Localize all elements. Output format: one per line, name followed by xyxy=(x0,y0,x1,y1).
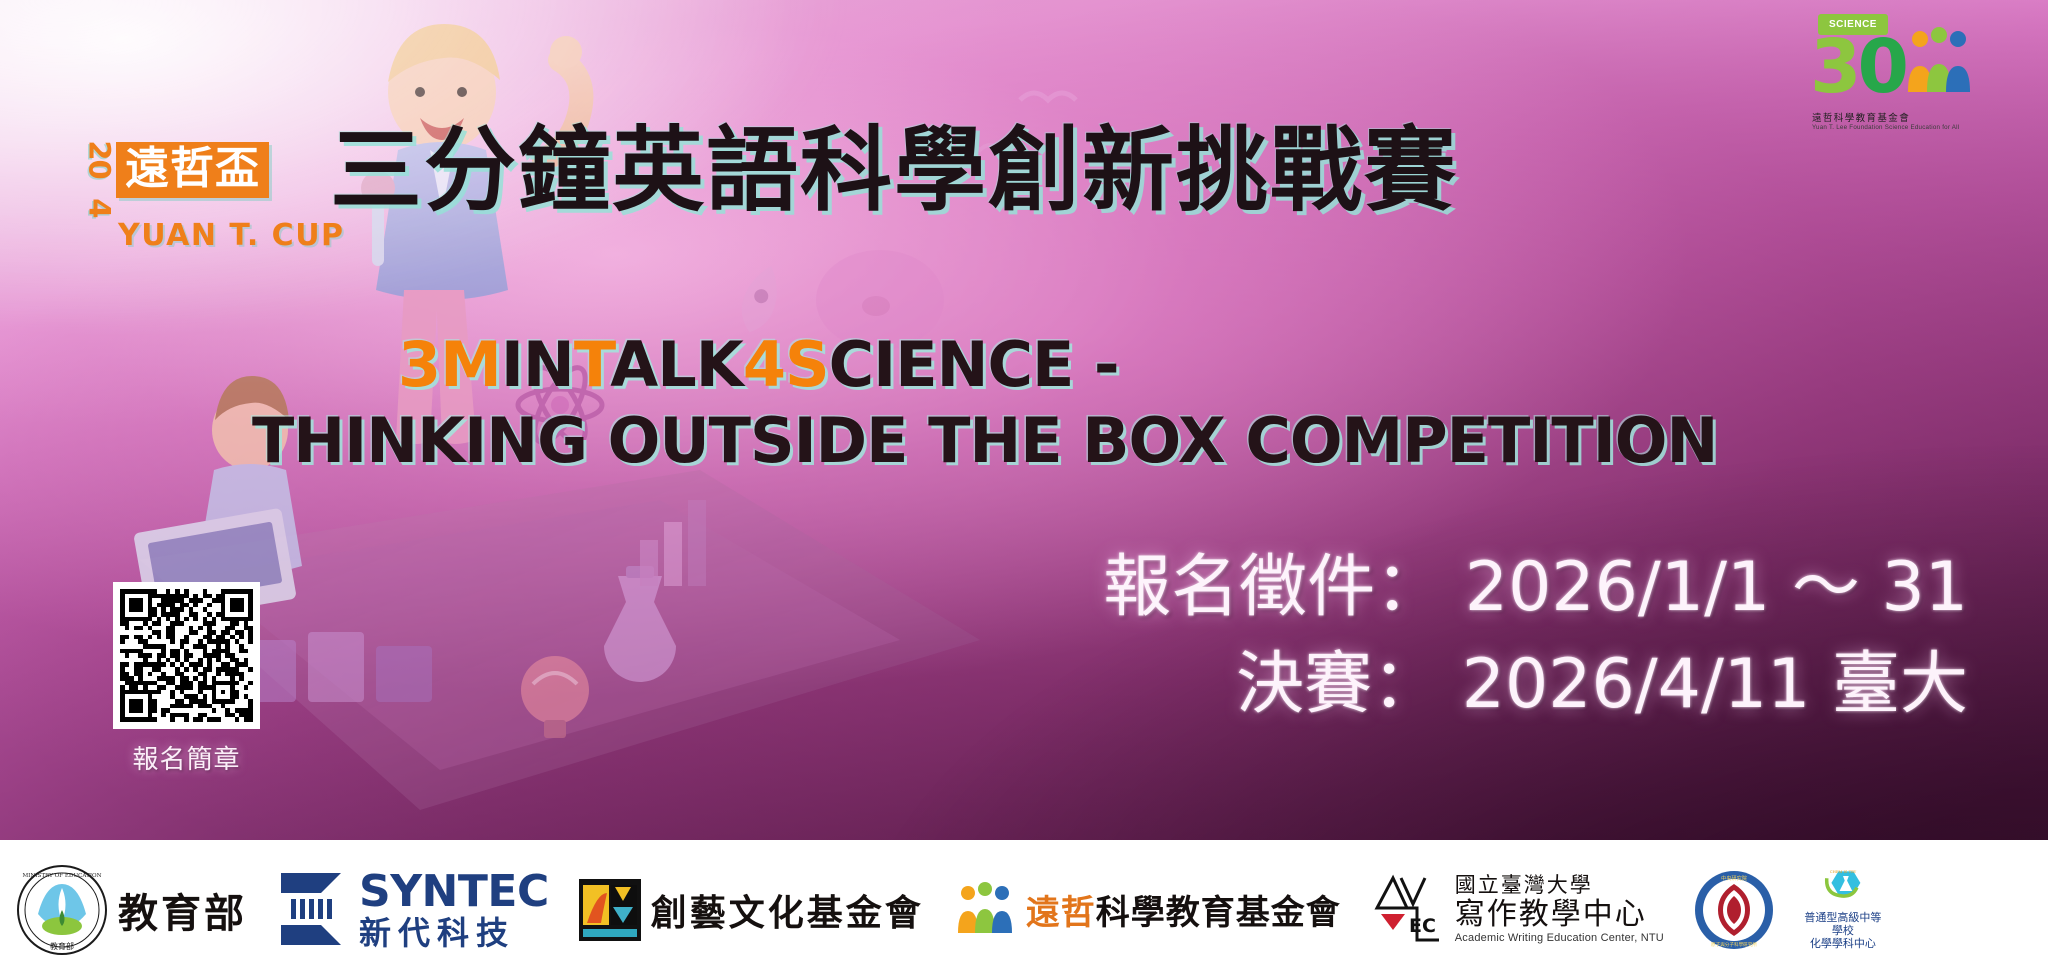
syntec-wordmark: SYNTEC 新代科技 xyxy=(359,870,549,949)
sponsor-chem-is-try: CHEM IS TRY 普通型高級中等學校 化學學科中心 xyxy=(1804,869,1882,951)
cup-name-cn: 遠哲盃 xyxy=(125,147,260,191)
sponsor-ministry-of-education: MINISTRY OF EDUCATION 教育部 教育部 xyxy=(16,864,247,956)
anniversary-number: 30 xyxy=(1810,30,1905,104)
awec-line3: Academic Writing Education Center, NTU xyxy=(1455,933,1664,945)
qr-caption: 報名簡章 xyxy=(113,739,260,776)
syntec-name-cn: 新代科技 xyxy=(359,917,549,949)
three-people-icon xyxy=(1902,26,1974,98)
registration-date: 報名徵件： 2026/1/1 ～ 31 xyxy=(1103,540,1968,637)
foundation-name-en: Yuan T. Lee Foundation Science Education… xyxy=(1812,124,1980,131)
qr-code-matrix xyxy=(120,589,253,722)
chuang-yi-label: 創藝文化基金會 xyxy=(651,884,924,936)
svg-text:教育部: 教育部 xyxy=(50,941,74,951)
sponsor-footer: MINISTRY OF EDUCATION 教育部 教育部 xyxy=(0,840,2048,979)
subtitle-part-3: ALK xyxy=(610,328,743,401)
subtitle-english-line2: THINKING OUTSIDE THE BOX COMPETITION xyxy=(252,410,1717,472)
page-title: 三分鐘英語科學創新挑戰賽 xyxy=(330,125,1458,217)
academia-sinica-seal-icon: 中央研究院 原子與分子科學研究所 xyxy=(1694,870,1774,950)
sponsor-awec-ntu: EC 國立臺灣大學 寫作教學中心 Academic Writing Educat… xyxy=(1371,874,1664,946)
awec-line2: 寫作教學中心 xyxy=(1455,899,1664,931)
yuanzhe-brand: 遠哲 xyxy=(1026,893,1096,933)
yuanzhe-rest: 科學教育基金會 xyxy=(1096,893,1341,933)
sponsor-academia-sinica-iams: 中央研究院 原子與分子科學研究所 xyxy=(1694,870,1774,950)
subtitle-part-1: IN xyxy=(501,328,574,401)
chem-line2: 化學學科中心 xyxy=(1804,937,1882,950)
sponsor-yuan-t-lee-foundation: 遠哲科學教育基金會 xyxy=(954,879,1341,941)
syntec-mark-icon xyxy=(277,867,349,953)
moe-seal-icon: MINISTRY OF EDUCATION 教育部 xyxy=(16,864,108,956)
chem-line1: 普通型高級中等學校 xyxy=(1804,911,1882,937)
qr-block[interactable]: 報名簡章 xyxy=(113,582,260,776)
cup-name-box: 遠哲盃 xyxy=(116,142,269,198)
final-date: 決賽： 2026/4/11 臺大 xyxy=(1103,637,1968,734)
cup-name-en: YUAN T. CUP xyxy=(118,218,345,253)
anniversary-digit-0: 0 xyxy=(1858,24,1906,110)
awec-wordmark: 國立臺灣大學 寫作教學中心 Academic Writing Education… xyxy=(1455,874,1664,944)
qr-code-icon[interactable] xyxy=(113,582,260,729)
subtitle-part-4: 4S xyxy=(743,328,829,401)
three-people-icon xyxy=(954,879,1016,941)
dates-block: 報名徵件： 2026/1/1 ～ 31 決賽： 2026/4/11 臺大 xyxy=(1103,540,1968,733)
foundation-name-cn: 遠哲科學教育基金會 xyxy=(1812,110,1980,124)
svg-text:MINISTRY OF EDUCATION: MINISTRY OF EDUCATION xyxy=(22,873,101,879)
subtitle-part-0: 3M xyxy=(398,328,501,401)
chem-wordmark: 普通型高級中等學校 化學學科中心 xyxy=(1804,911,1882,951)
anniversary-digit-3: 3 xyxy=(1810,24,1858,110)
cup-year: 20 4 xyxy=(82,138,116,256)
subtitle-part-5: CIENCE - xyxy=(829,328,1119,401)
anniversary-logo: SCIENCE 30 遠哲科學教育基金會 Yuan T. Lee Foundat… xyxy=(1810,14,1980,144)
cup-year-top: 20 xyxy=(86,140,113,174)
sponsor-syntec: SYNTEC 新代科技 xyxy=(277,867,549,953)
svg-text:CHEM IS TRY: CHEM IS TRY xyxy=(1830,870,1857,874)
sponsor-chuang-yi-culture-foundation: 創藝文化基金會 xyxy=(579,879,924,941)
svg-text:中央研究院: 中央研究院 xyxy=(1721,874,1748,882)
art-mark-icon xyxy=(579,879,641,941)
poster-root: SCIENCE 30 遠哲科學教育基金會 Yuan T. Lee Foundat… xyxy=(0,0,2048,979)
moe-label: 教育部 xyxy=(118,881,247,939)
subtitle-part-2: T xyxy=(574,328,610,401)
svg-text:原子與分子科學研究所: 原子與分子科學研究所 xyxy=(1711,941,1757,948)
yuan-t-lee-label: 遠哲科學教育基金會 xyxy=(1026,885,1341,934)
syntec-name-en: SYNTEC xyxy=(359,870,549,914)
awec-line1: 國立臺灣大學 xyxy=(1455,874,1664,896)
chem-flask-hex-icon: CHEM IS TRY xyxy=(1805,869,1881,901)
cup-year-bottom: 4 xyxy=(86,191,113,225)
svg-text:EC: EC xyxy=(1409,915,1436,937)
awec-monogram-icon: EC xyxy=(1371,874,1445,946)
subtitle-english-line1: 3MINTALK4SCIENCE - xyxy=(398,334,1119,396)
